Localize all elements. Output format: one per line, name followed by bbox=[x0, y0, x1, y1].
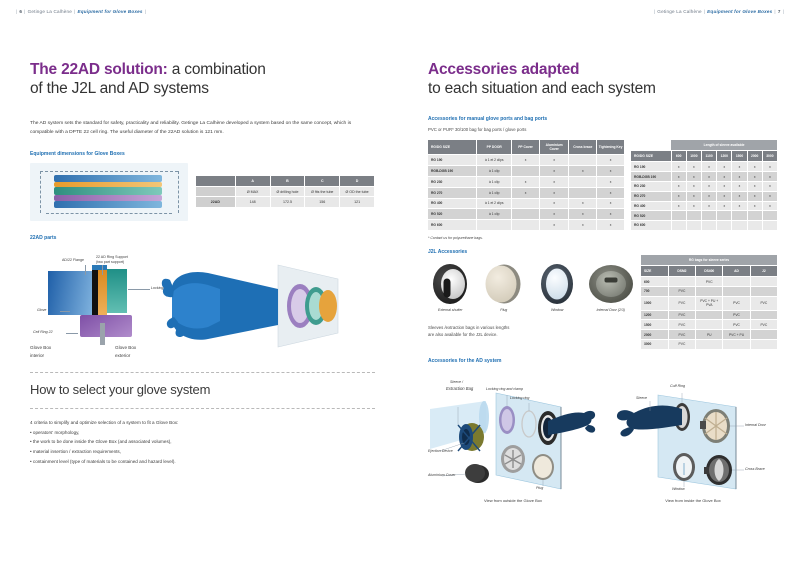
sl-r6-c0 bbox=[671, 221, 686, 231]
table-header-row: RG/DG SIZE PP DOOR PP Cover Aluminium Co… bbox=[428, 140, 625, 155]
table-row: 2000PVCPUPVC + PU bbox=[641, 330, 778, 340]
sl-r1-c3: x bbox=[717, 172, 732, 182]
acc-r1-c2: x bbox=[539, 166, 569, 177]
sl-r6-c3 bbox=[717, 221, 732, 231]
internal-door-image bbox=[589, 262, 634, 306]
dim-row-b: 172.5 bbox=[270, 197, 305, 207]
label-plug: Plug bbox=[536, 486, 543, 490]
table-header-row: RG/DG SIZE 600 1000 1100 1200 1500 2000 … bbox=[631, 151, 778, 162]
sl-r1-c5: x bbox=[747, 172, 762, 182]
sl-r0-c1: x bbox=[686, 162, 701, 172]
sl-r5-c5 bbox=[747, 211, 762, 221]
dimension-table: A B C D Ø MAX Ø drilling hole Ø fits the… bbox=[196, 176, 375, 206]
table-row: RGB-DGB 190xxxxxxx bbox=[631, 172, 778, 182]
table-row: 22AD 148 172.5 156 121 bbox=[196, 197, 375, 207]
dim-sub-d: Ø OD the tube bbox=[340, 187, 375, 197]
window-image bbox=[535, 262, 580, 306]
j2l-products: External shutter Plug bbox=[428, 255, 633, 350]
table-row: RG 600 bbox=[631, 221, 778, 231]
sl-r0-c3: x bbox=[717, 162, 732, 172]
parts-heading: 22AD parts bbox=[30, 235, 375, 241]
sleeve-head-blank bbox=[631, 140, 671, 151]
bg-r4-c1 bbox=[696, 320, 723, 330]
layer-flange-bottom bbox=[54, 201, 162, 208]
sl-r1-c4: x bbox=[732, 172, 747, 182]
external-shutter-image bbox=[428, 262, 473, 306]
dim-head-d: D bbox=[340, 176, 375, 187]
dim-sub-0 bbox=[196, 187, 235, 197]
label-gb-exterior-2: exterior bbox=[115, 353, 130, 358]
leader-flange bbox=[85, 265, 86, 275]
sl-r2-c2: x bbox=[701, 181, 716, 191]
sleeves-note-block: Sleeves /extraction bags in various leng… bbox=[428, 324, 633, 339]
diagram-inside-caption: View from inside the Glove Box bbox=[608, 498, 778, 503]
sl-r4-c4: x bbox=[732, 201, 747, 211]
equipment-layer-stack bbox=[54, 175, 162, 209]
layer-locking-ring bbox=[54, 187, 162, 195]
sleeve-head-3: 1100 bbox=[701, 151, 716, 162]
sl-r2-c3: x bbox=[717, 181, 732, 191]
bg-r6-c3 bbox=[750, 339, 777, 349]
sl-r5-c2 bbox=[701, 211, 716, 221]
plug-image bbox=[482, 262, 527, 306]
bags-head-2: DS400 bbox=[696, 266, 723, 277]
table-row: 1200PVCPVC bbox=[641, 310, 778, 320]
sl-r0-size: RG 190 bbox=[631, 162, 671, 172]
page-title-right: Accessories adapted to each situation an… bbox=[428, 60, 778, 98]
acc-r2-c2: x bbox=[539, 176, 569, 187]
dim-row-size: 22AD bbox=[196, 197, 235, 207]
section-divider-2 bbox=[30, 408, 375, 409]
dim-head-c: C bbox=[305, 176, 340, 187]
sleeve-head-2: 1000 bbox=[686, 151, 701, 162]
sl-r3-c4: x bbox=[732, 191, 747, 201]
dim-sub-a: Ø MAX bbox=[235, 187, 270, 197]
bg-r1-c3 bbox=[750, 287, 777, 297]
bg-r0-c2 bbox=[723, 277, 750, 287]
j2l-caption-0: External shutter bbox=[428, 308, 473, 312]
acc-r0-size: RG 190 bbox=[428, 155, 477, 166]
sl-r3-c5: x bbox=[747, 191, 762, 201]
dimension-subheader-row: Ø MAX Ø drilling hole Ø fits the tube Ø … bbox=[196, 187, 375, 197]
criteria-intro: 4 criteria to simplify and optimize sele… bbox=[30, 418, 375, 428]
sl-r4-size: RG 400 bbox=[631, 201, 671, 211]
sl-r3-c0: x bbox=[671, 191, 686, 201]
cell-ring-section bbox=[80, 315, 132, 337]
acc-r5-c0: à 1 clip bbox=[477, 209, 512, 220]
bg-r5-c3 bbox=[750, 330, 777, 340]
dim-head-b: B bbox=[270, 176, 305, 187]
label-ejection-device: Ejection Device bbox=[428, 449, 453, 453]
sl-r6-c1 bbox=[686, 221, 701, 231]
sl-r3-c3: x bbox=[717, 191, 732, 201]
table-row: RG 400xxxxxxx bbox=[631, 201, 778, 211]
criteria-item-3: containment level (type of materials to … bbox=[33, 459, 176, 464]
criteria-item-2: material insertion / extraction requirem… bbox=[33, 449, 121, 454]
locking-ring-section bbox=[107, 269, 127, 313]
acc-r0-c4: x bbox=[597, 155, 625, 166]
equipment-dimensions-block: A B C D Ø MAX Ø drilling hole Ø fits the… bbox=[30, 163, 375, 225]
bags-head-1: DSM2 bbox=[668, 266, 695, 277]
bg-r4-c3: PVC bbox=[750, 320, 777, 330]
bg-r6-c2 bbox=[723, 339, 750, 349]
acc-r4-c3: x bbox=[569, 198, 597, 209]
select-system-title: How to select your glove system bbox=[30, 382, 375, 397]
accessory-tables: RG/DG SIZE PP DOOR PP Cover Aluminium Co… bbox=[428, 140, 778, 231]
acc-r0-c2: x bbox=[539, 155, 569, 166]
brand-right: Getinge La Calhène bbox=[657, 9, 701, 14]
acc-r2-c4: x bbox=[597, 176, 625, 187]
acc-head-0: RG/DG SIZE bbox=[428, 140, 477, 155]
dim-line-d bbox=[46, 213, 172, 214]
bg-r5-size: 2000 bbox=[641, 330, 668, 340]
j2l-caption-3: Internal Door (2/3) bbox=[589, 308, 634, 312]
bg-r6-size: 3000 bbox=[641, 339, 668, 349]
table-row: RG 520à 1 clipxxx bbox=[428, 209, 625, 220]
acc-r1-c1 bbox=[512, 166, 540, 177]
acc-r6-size: RG 600 bbox=[428, 220, 477, 231]
table-row: RG 190à 1 et 2 clipsxxx bbox=[428, 155, 625, 166]
acc-r6-c1 bbox=[512, 220, 540, 231]
list-item: External shutter bbox=[428, 262, 473, 312]
cap-section bbox=[92, 265, 107, 270]
sl-r5-c0 bbox=[671, 211, 686, 221]
table-row: RG 190xxxxxxx bbox=[631, 162, 778, 172]
sl-r6-c6 bbox=[762, 221, 777, 231]
page-title-rest: a combination bbox=[168, 61, 266, 78]
table-row: 1000PVCPVC + PU + PVAPVCPVC bbox=[641, 296, 778, 310]
criteria-list: 4 criteria to simplify and optimize sele… bbox=[30, 418, 375, 466]
sl-r0-c6: x bbox=[762, 162, 777, 172]
bg-r5-c1: PU bbox=[696, 330, 723, 340]
acc-r3-c0: à 1 clip bbox=[477, 187, 512, 198]
criteria-item-0: operators' morphology, bbox=[33, 430, 80, 435]
acc-r5-c2: x bbox=[539, 209, 569, 220]
table-row: RGB-DGB 190à 1 clipxxx bbox=[428, 166, 625, 177]
acc-r4-c1 bbox=[512, 198, 540, 209]
sl-r6-size: RG 600 bbox=[631, 221, 671, 231]
polyurethane-note: * Contact us for polyurethane bags. bbox=[428, 236, 778, 240]
sl-r0-c2: x bbox=[701, 162, 716, 172]
acc-r1-size: RGB-DGB 190 bbox=[428, 166, 477, 177]
bg-r2-c2: PVC bbox=[723, 296, 750, 310]
label-gb-interior-2: interior bbox=[30, 353, 44, 358]
bg-r3-c2: PVC bbox=[723, 310, 750, 320]
label-aluminium-cover: Aluminium Cover bbox=[428, 473, 455, 477]
acc-r2-c0: à 1 clip bbox=[477, 176, 512, 187]
page-title-right-accent: Accessories adapted bbox=[428, 61, 579, 78]
ring-support-section bbox=[98, 269, 107, 319]
door-handle bbox=[604, 277, 617, 282]
bg-r4-c0: PVC bbox=[668, 320, 695, 330]
label-gb-interior: Glove Box bbox=[30, 345, 51, 350]
list-item: • containment level (type of materials t… bbox=[30, 457, 375, 467]
manual-accessories-sub: PVC or PUR* 30/100 bag for bag ports / g… bbox=[428, 127, 778, 132]
bg-r0-c0 bbox=[668, 277, 695, 287]
ad-diagrams: Sleeve / Extraction Bag Locking ring and… bbox=[428, 371, 778, 503]
sl-r5-size: RG 520 bbox=[631, 211, 671, 221]
sl-r1-c2: x bbox=[701, 172, 716, 182]
acc-r5-size: RG 520 bbox=[428, 209, 477, 220]
brochure-spread: |6|Getinge La Calhène|Equipment for Glov… bbox=[0, 0, 800, 565]
sl-r4-c5: x bbox=[747, 201, 762, 211]
acc-head-1: PP DOOR bbox=[477, 140, 512, 155]
left-page-content: The 22AD solution: a combination of the … bbox=[30, 60, 375, 466]
table-row: RG 230xxxxxxx bbox=[631, 181, 778, 191]
diagram-outside-wrap: Sleeve / Extraction Bag Locking ring and… bbox=[428, 371, 598, 503]
glove-section bbox=[48, 271, 92, 315]
acc-r4-size: RG 400 bbox=[428, 198, 477, 209]
bg-r1-c2 bbox=[723, 287, 750, 297]
label-glove: Glove bbox=[37, 308, 46, 312]
acc-r0-c3 bbox=[569, 155, 597, 166]
acc-r6-c3: x bbox=[569, 220, 597, 231]
sl-r4-c2: x bbox=[701, 201, 716, 211]
sl-r2-c1: x bbox=[686, 181, 701, 191]
acc-head-3: Aluminium Cover bbox=[539, 140, 569, 155]
sl-r3-c2: x bbox=[701, 191, 716, 201]
bg-r2-size: 1000 bbox=[641, 296, 668, 310]
list-item: • material insertion / extraction requir… bbox=[30, 447, 375, 457]
bg-r2-c1: PVC + PU + PVA bbox=[696, 296, 723, 310]
page-title-left: The 22AD solution: a combination of the … bbox=[30, 60, 375, 98]
sl-r3-c1: x bbox=[686, 191, 701, 201]
table-row: 700PVC bbox=[641, 287, 778, 297]
acc-r6-c2: x bbox=[539, 220, 569, 231]
right-page-content: Accessories adapted to each situation an… bbox=[428, 60, 778, 503]
dim-sub-c: Ø fits the tube bbox=[305, 187, 340, 197]
table-group-header-row: RG bags for sleeve series bbox=[641, 255, 778, 266]
sleeve-head-4: 1200 bbox=[717, 151, 732, 162]
label-locking-ring-ad: Locking ring bbox=[510, 396, 529, 400]
shutter-handle bbox=[444, 278, 451, 297]
sl-r5-c6 bbox=[762, 211, 777, 221]
sl-r6-c2 bbox=[701, 221, 716, 231]
table-row: RG 520 bbox=[631, 211, 778, 221]
sl-r6-c4 bbox=[732, 221, 747, 231]
sleeves-note-1: Sleeves /extraction bags in various leng… bbox=[428, 324, 633, 332]
leader-cellring bbox=[66, 333, 78, 334]
list-item: • the work to be done inside the Glove B… bbox=[30, 437, 375, 447]
sleeves-note-2: are also available for the J2L device. bbox=[428, 331, 633, 339]
bags-group-header: RG bags for sleeve series bbox=[641, 255, 778, 266]
acc-r4-c2: x bbox=[539, 198, 569, 209]
list-item: Plug bbox=[482, 262, 527, 312]
table-row: RG 270à 1 clipxxx bbox=[428, 187, 625, 198]
table-row: 600PVC bbox=[641, 277, 778, 287]
table-row: 1500PVCPVCPVC bbox=[641, 320, 778, 330]
ad-system-heading: Accessories for the AD system bbox=[428, 358, 778, 364]
plug-face bbox=[485, 265, 516, 302]
bg-r6-c0: PVC bbox=[668, 339, 695, 349]
table-group-header-row: Length of sleeve available bbox=[631, 140, 778, 151]
bg-r0-c3 bbox=[750, 277, 777, 287]
parts-diagram: AD/22 Flange 22 AD Ring Support (two par… bbox=[30, 249, 375, 361]
label-sleeve-left: Sleeve / bbox=[450, 380, 463, 384]
bags-head-0: SIZE bbox=[641, 266, 668, 277]
acc-r1-c4: x bbox=[597, 166, 625, 177]
bg-r0-size: 600 bbox=[641, 277, 668, 287]
window-glass bbox=[546, 268, 568, 299]
label-locking-clamp: Locking ring and clamp bbox=[486, 387, 523, 391]
sl-r0-c5: x bbox=[747, 162, 762, 172]
table-row: 3000PVC bbox=[641, 339, 778, 349]
sl-r2-c6: x bbox=[762, 181, 777, 191]
sl-r1-c6: x bbox=[762, 172, 777, 182]
sleeve-head-1: 600 bbox=[671, 151, 686, 162]
acc-r2-c3 bbox=[569, 176, 597, 187]
layer-flange-top bbox=[54, 175, 162, 182]
acc-r6-c0 bbox=[477, 220, 512, 231]
sleeve-head-6: 2000 bbox=[747, 151, 762, 162]
sl-r2-c0: x bbox=[671, 181, 686, 191]
acc-r1-c0: à 1 clip bbox=[477, 166, 512, 177]
diagram-inside-svg bbox=[608, 371, 778, 496]
label-flange: AD/22 Flange bbox=[62, 258, 84, 262]
bg-r3-c3 bbox=[750, 310, 777, 320]
acc-r3-c2: x bbox=[539, 187, 569, 198]
acc-head-2: PP Cover bbox=[512, 140, 540, 155]
sleeve-group-header: Length of sleeve available bbox=[671, 140, 777, 151]
sl-r4-c3: x bbox=[717, 201, 732, 211]
sl-r6-c5 bbox=[747, 221, 762, 231]
dimension-table-header-row: A B C D bbox=[196, 176, 375, 187]
sl-r2-c4: x bbox=[732, 181, 747, 191]
acc-r0-c0: à 1 et 2 clips bbox=[477, 155, 512, 166]
acc-r3-c1: x bbox=[512, 187, 540, 198]
bg-r3-size: 1200 bbox=[641, 310, 668, 320]
acc-r6-c4: x bbox=[597, 220, 625, 231]
j2l-section: External shutter Plug bbox=[428, 255, 778, 350]
list-item: Window bbox=[535, 262, 580, 312]
sleeve-head-7: 3000 bbox=[762, 151, 777, 162]
sl-r1-c0: x bbox=[671, 172, 686, 182]
sl-r3-size: RG 270 bbox=[631, 191, 671, 201]
sl-r3-c6: x bbox=[762, 191, 777, 201]
j2l-caption-2: Window bbox=[535, 308, 580, 312]
brand-left: Getinge La Calhène bbox=[28, 9, 72, 14]
j2l-bags-table: RG bags for sleeve series SIZE DSM2 DS40… bbox=[641, 255, 778, 350]
acc-r5-c4: x bbox=[597, 209, 625, 220]
doc-title-right: Equipment for Glove Boxes bbox=[707, 9, 772, 14]
bg-r2-c0: PVC bbox=[668, 296, 695, 310]
sl-r1-c1: x bbox=[686, 172, 701, 182]
sl-r0-c0: x bbox=[671, 162, 686, 172]
label-window: Window bbox=[672, 487, 685, 491]
acc-head-4: Cross brace bbox=[569, 140, 597, 155]
label-internal-door: Internal Door bbox=[745, 423, 766, 427]
page-number-left: 6 bbox=[19, 9, 22, 14]
bg-r4-c2: PVC bbox=[723, 320, 750, 330]
bg-r1-c0: PVC bbox=[668, 287, 695, 297]
table-header-row: SIZE DSM2 DS400 AD J2 bbox=[641, 266, 778, 277]
bg-r5-c2: PVC + PU bbox=[723, 330, 750, 340]
diagram-outside-caption: View from outside the Glove Box bbox=[428, 498, 598, 503]
sl-r1-size: RGB-DGB 190 bbox=[631, 172, 671, 182]
acc-r0-c1: x bbox=[512, 155, 540, 166]
label-sleeve-right: Sleeve bbox=[636, 396, 647, 400]
dim-row-d: 121 bbox=[340, 197, 375, 207]
acc-head-5: Tightening Key bbox=[597, 140, 625, 155]
bg-r1-c1 bbox=[696, 287, 723, 297]
equipment-dimensions-heading: Equipment dimensions for Glove Boxes bbox=[30, 151, 375, 157]
sl-r5-c3 bbox=[717, 211, 732, 221]
diagram-outside: Sleeve / Extraction Bag Locking ring and… bbox=[428, 371, 598, 496]
sl-r4-c1: x bbox=[686, 201, 701, 211]
bags-head-4: J2 bbox=[750, 266, 777, 277]
sl-r0-c4: x bbox=[732, 162, 747, 172]
j2l-bags-table-wrap: RG bags for sleeve series SIZE DSM2 DS40… bbox=[641, 255, 778, 350]
acc-r3-size: RG 270 bbox=[428, 187, 477, 198]
leader-glove bbox=[60, 311, 70, 312]
dim-sub-b: Ø drilling hole bbox=[270, 187, 305, 197]
sleeve-head-0: RG/DG SIZE bbox=[631, 151, 671, 162]
diagram-inside-wrap: Sleeve Cuff Ring Internal Door Cross Bra… bbox=[608, 371, 778, 503]
dim-row-c: 156 bbox=[305, 197, 340, 207]
sl-r5-c4 bbox=[732, 211, 747, 221]
bg-r1-size: 700 bbox=[641, 287, 668, 297]
sleeve-head-5: 1500 bbox=[732, 151, 747, 162]
intro-paragraph: The AD system sets the standard for safe… bbox=[30, 120, 375, 137]
table-row: RG 600xxx bbox=[428, 220, 625, 231]
support-rod bbox=[100, 323, 105, 345]
table-row: RG 230à 1 clipxxx bbox=[428, 176, 625, 187]
sleeve-length-table: Length of sleeve available RG/DG SIZE 60… bbox=[631, 140, 778, 231]
dim-head-0 bbox=[196, 176, 235, 187]
table-row: RG 400à 1 et 2 clipsxxx bbox=[428, 198, 625, 209]
sl-r2-size: RG 230 bbox=[631, 181, 671, 191]
acc-r3-c3 bbox=[569, 187, 597, 198]
label-extraction-bag: Extraction Bag bbox=[446, 386, 473, 391]
acc-r2-size: RG 230 bbox=[428, 176, 477, 187]
acc-r4-c4: x bbox=[597, 198, 625, 209]
section-divider bbox=[30, 372, 375, 373]
glove-illustration bbox=[160, 259, 360, 354]
label-ring-support-sub: (two part support) bbox=[96, 260, 124, 264]
page-title-right-line2: to each situation and each system bbox=[428, 80, 656, 97]
acc-r1-c3: x bbox=[569, 166, 597, 177]
diagram-inside: Sleeve Cuff Ring Internal Door Cross Bra… bbox=[608, 371, 778, 496]
leader-lockingring bbox=[128, 289, 150, 290]
sl-r5-c1 bbox=[686, 211, 701, 221]
acc-r3-c4: x bbox=[597, 187, 625, 198]
doc-title-left: Equipment for Glove Boxes bbox=[77, 9, 142, 14]
label-cross-brace: Cross Brace bbox=[745, 467, 765, 471]
bg-r4-size: 1500 bbox=[641, 320, 668, 330]
j2l-caption-1: Plug bbox=[482, 308, 527, 312]
bg-r0-c1: PVC bbox=[696, 277, 723, 287]
j2l-product-list: External shutter Plug bbox=[428, 262, 633, 312]
page-title-accent: The 22AD solution: bbox=[30, 61, 168, 78]
dim-row-a: 148 bbox=[235, 197, 270, 207]
bg-r5-c0: PVC bbox=[668, 330, 695, 340]
acc-r5-c3: x bbox=[569, 209, 597, 220]
label-cuff-ring: Cuff Ring bbox=[670, 384, 685, 388]
criteria-item-1: the work to be done inside the Glove Box… bbox=[33, 439, 172, 444]
sl-r4-c0: x bbox=[671, 201, 686, 211]
acc-r2-c1: x bbox=[512, 176, 540, 187]
dim-tick-right bbox=[178, 171, 179, 213]
manual-accessories-table: RG/DG SIZE PP DOOR PP Cover Aluminium Co… bbox=[428, 140, 625, 231]
acc-r4-c0: à 1 et 2 clips bbox=[477, 198, 512, 209]
list-item: • operators' morphology, bbox=[30, 428, 375, 438]
list-item: Internal Door (2/3) bbox=[589, 262, 634, 312]
page-title-line2: of the J2L and AD systems bbox=[30, 80, 209, 97]
table-row: RG 270xxxxxxx bbox=[631, 191, 778, 201]
bg-r3-c0: PVC bbox=[668, 310, 695, 320]
acc-r5-c1 bbox=[512, 209, 540, 220]
equipment-exploded-image bbox=[30, 163, 188, 221]
